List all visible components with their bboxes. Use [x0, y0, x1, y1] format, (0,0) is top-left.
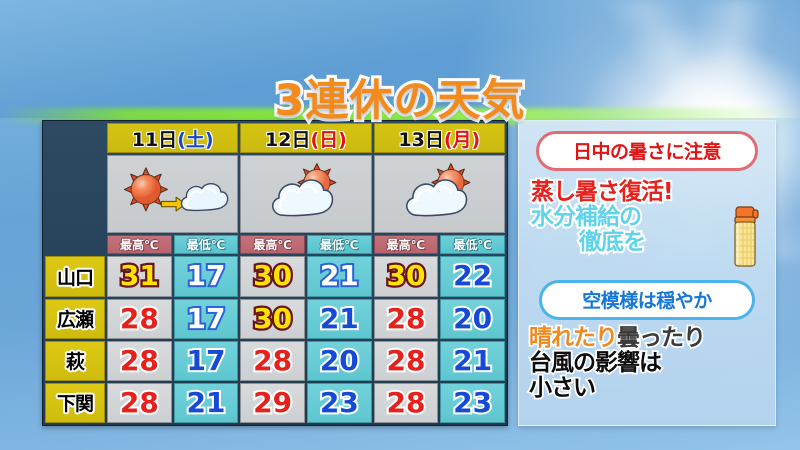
- table-row-icons: [45, 155, 505, 233]
- minmax-row-blank: [45, 235, 105, 254]
- temp-cell-1-1: 17: [174, 299, 239, 339]
- temp-cell-3-5: 23: [440, 383, 505, 423]
- date-text-1: 12日: [265, 129, 310, 151]
- min-label-1: 最低℃: [307, 235, 372, 254]
- temp-cell-3-4: 28: [374, 383, 439, 423]
- temp-value: 31: [120, 262, 159, 290]
- temp-cell-1-3: 21: [307, 299, 372, 339]
- forecast-table-panel: 11日(土) 12日(日) 13日(月): [42, 120, 508, 426]
- temp-cell-1-5: 20: [440, 299, 505, 339]
- temp-value: 21: [320, 305, 359, 333]
- sky-comment-line3: 小さい: [527, 376, 767, 401]
- date-text-0: 11日: [132, 129, 177, 151]
- temp-value: 22: [453, 262, 492, 290]
- temp-cell-2-2: 28: [240, 341, 305, 381]
- temp-cell-3-2: 29: [240, 383, 305, 423]
- temp-cell-0-2: 30: [240, 256, 305, 296]
- heat-warning-pill: 日中の暑さに注意: [536, 131, 758, 171]
- weather-icon-cell-2: [374, 155, 505, 233]
- table-row: 広瀬 28 17 30 21 28 20: [45, 299, 505, 339]
- temp-value: 30: [253, 305, 292, 333]
- temp-value: 28: [386, 347, 425, 375]
- temp-value: 28: [386, 305, 425, 333]
- weekday-text-2: (月): [444, 129, 480, 151]
- sky-comment-block: 晴れたり曇ったり 台風の影響は 小さい: [527, 326, 767, 400]
- comment-panel: 日中の暑さに注意 蒸し暑さ復活! 水分補給の 徹底を 空模様は穏やか 晴れたり曇…: [518, 120, 776, 426]
- max-label-0: 最高℃: [107, 235, 172, 254]
- city-label-1: 広瀬: [45, 299, 105, 339]
- temp-cell-0-3: 21: [307, 256, 372, 296]
- icon-row-blank: [45, 155, 105, 233]
- temp-value: 28: [253, 347, 292, 375]
- temp-cell-1-2: 30: [240, 299, 305, 339]
- temp-value: 17: [187, 347, 226, 375]
- cloud-over-sun-icon: [375, 156, 504, 228]
- city-label-3: 下関: [45, 383, 105, 423]
- cloud-over-sun-icon: [241, 156, 370, 228]
- weekday-text-1: (日): [311, 129, 347, 151]
- temp-value: 17: [187, 305, 226, 333]
- temp-value: 28: [120, 347, 159, 375]
- temp-cell-3-0: 28: [107, 383, 172, 423]
- max-label-1: 最高℃: [240, 235, 305, 254]
- temp-cell-0-0: 31: [107, 256, 172, 296]
- temp-value: 28: [386, 389, 425, 417]
- sky-comment-line1b: 曇ったり: [617, 325, 705, 351]
- temp-value: 21: [320, 262, 359, 290]
- temp-cell-2-3: 20: [307, 341, 372, 381]
- table-row: 萩 28 17 28 20 28 21: [45, 341, 505, 381]
- heat-comment-line1: 蒸し暑さ復活!: [527, 180, 767, 205]
- temp-value: 28: [120, 305, 159, 333]
- min-label-2: 最低℃: [440, 235, 505, 254]
- temp-cell-3-3: 23: [307, 383, 372, 423]
- sun-to-cloud-icon: [108, 156, 237, 228]
- temp-cell-2-5: 21: [440, 341, 505, 381]
- temp-value: 20: [453, 305, 492, 333]
- temp-value: 23: [320, 389, 359, 417]
- temp-cell-3-1: 21: [174, 383, 239, 423]
- temp-cell-1-0: 28: [107, 299, 172, 339]
- temp-cell-2-1: 17: [174, 341, 239, 381]
- temp-value: 21: [453, 347, 492, 375]
- weekday-text-0: (土): [177, 129, 213, 151]
- sky-comment-pill: 空模様は穏やか: [539, 280, 755, 320]
- temp-value: 23: [453, 389, 492, 417]
- temp-cell-2-0: 28: [107, 341, 172, 381]
- temp-cell-1-4: 28: [374, 299, 439, 339]
- sky-comment-line1a: 晴れたり: [529, 325, 617, 351]
- weather-icon-cell-1: [240, 155, 371, 233]
- min-label-0: 最低℃: [174, 235, 239, 254]
- temp-value: 20: [320, 347, 359, 375]
- max-label-2: 最高℃: [374, 235, 439, 254]
- temp-value: 17: [187, 262, 226, 290]
- temp-cell-2-4: 28: [374, 341, 439, 381]
- table-row: 下関 28 21 29 23 28 23: [45, 383, 505, 423]
- weather-icon-cell-0: [107, 155, 238, 233]
- city-label-0: 山口: [45, 256, 105, 296]
- heat-comment-block: 蒸し暑さ復活! 水分補給の 徹底を: [527, 180, 767, 280]
- temp-value: 28: [120, 389, 159, 417]
- table-row: 山口 31 17 30 21 30 22: [45, 256, 505, 296]
- date-text-2: 13日: [398, 129, 443, 151]
- page-title: 3連休の天気: [0, 66, 800, 128]
- temp-value: 30: [386, 262, 425, 290]
- city-label-2: 萩: [45, 341, 105, 381]
- forecast-table: 11日(土) 12日(日) 13日(月): [43, 121, 507, 425]
- sky-comment-line1: 晴れたり曇ったり: [527, 326, 767, 351]
- temp-cell-0-1: 17: [174, 256, 239, 296]
- table-row-minmax: 最高℃ 最低℃ 最高℃ 最低℃ 最高℃ 最低℃: [45, 235, 505, 254]
- temp-value: 29: [253, 389, 292, 417]
- sky-comment-line2: 台風の影響は: [527, 351, 767, 376]
- temp-value: 30: [253, 262, 292, 290]
- temp-cell-0-4: 30: [374, 256, 439, 296]
- temp-cell-0-5: 22: [440, 256, 505, 296]
- temp-value: 21: [187, 389, 226, 417]
- water-bottle-icon: [729, 206, 761, 268]
